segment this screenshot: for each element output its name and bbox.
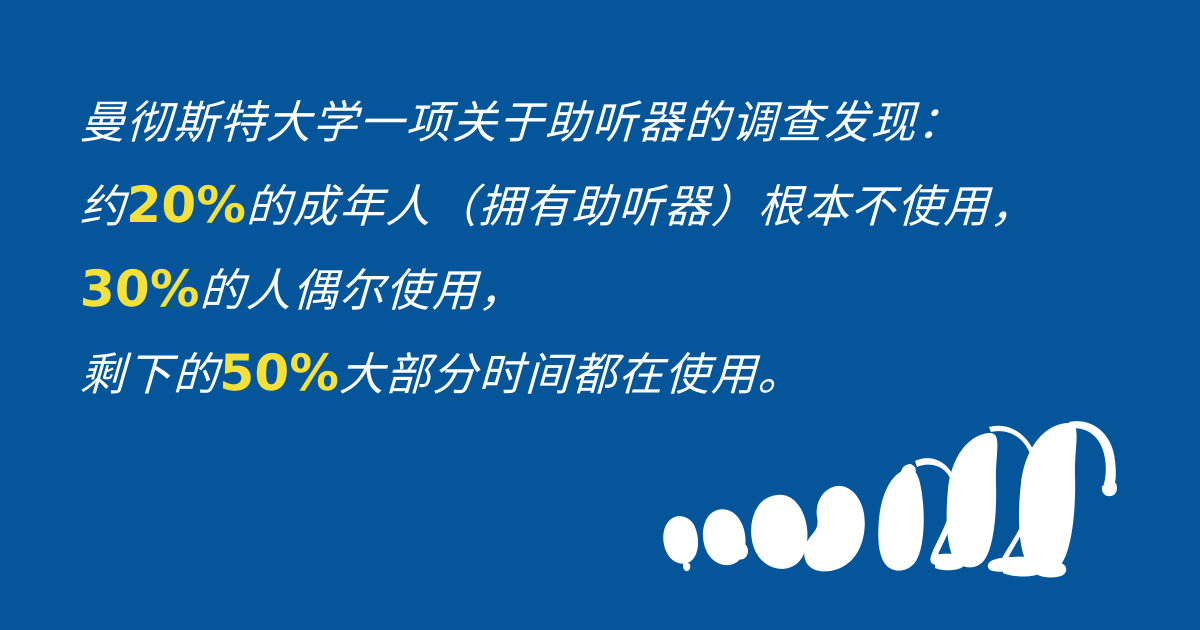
headline-text: 曼彻斯特大学一项关于助听器的调查发现： — [79, 96, 964, 149]
statistic-line-never-use: 约20%的成年人（拥有助听器）根本不使用， — [79, 164, 1122, 248]
hearing-aid-cic-icon — [703, 509, 748, 565]
line-2-suffix: 的成年人（拥有助听器）根本不使用， — [245, 180, 1037, 233]
hearing-aid-iic-icon — [663, 516, 698, 571]
line-2-prefix: 约 — [79, 180, 127, 233]
statistic-line-most-of-time-use: 剩下的50%大部分时间都在使用。 — [79, 332, 1122, 416]
hearing-aid-itc-icon — [751, 495, 807, 569]
percent-most-of-time-use: 50% — [219, 344, 341, 402]
poster-canvas: 曼彻斯特大学一项关于助听器的调查发现： 约20%的成年人（拥有助听器）根本不使用… — [0, 0, 1200, 630]
hearing-aid-lineup-illustration — [655, 415, 1135, 590]
statistic-text-block: 曼彻斯特大学一项关于助听器的调查发现： 约20%的成年人（拥有助听器）根本不使用… — [80, 82, 1120, 416]
hearing-aid-ite-icon — [804, 486, 865, 572]
line-4-prefix: 剩下的 — [79, 348, 220, 401]
line-4-suffix: 大部分时间都在使用。 — [338, 348, 805, 401]
line-3-suffix: 的人偶尔使用， — [199, 264, 526, 317]
percent-never-use: 20% — [126, 176, 248, 234]
percent-occasional-use: 30% — [79, 260, 201, 318]
headline-line-1: 曼彻斯特大学一项关于助听器的调查发现： — [79, 82, 1122, 164]
statistic-line-occasional-use: 30%的人偶尔使用， — [79, 248, 1122, 332]
